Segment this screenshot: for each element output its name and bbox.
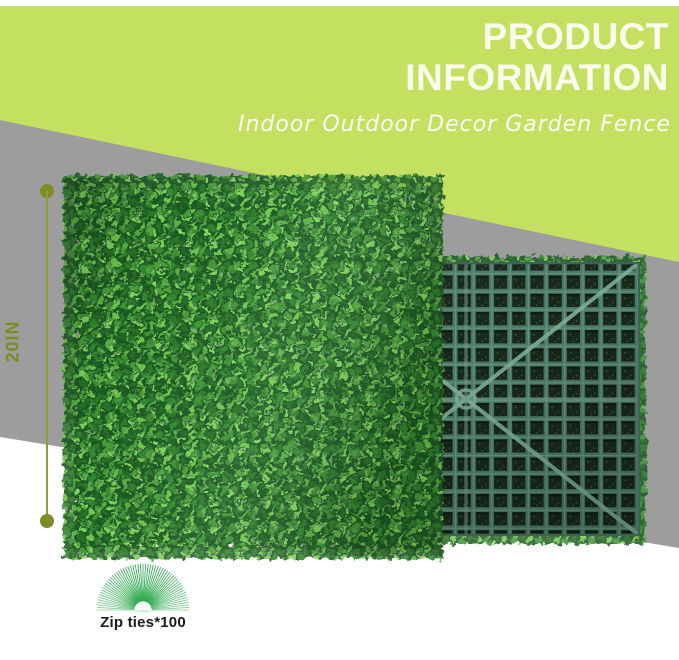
zip-ties-badge: Zip ties*100: [68, 562, 218, 631]
product-panels: [0, 0, 679, 660]
zip-ties-caption: Zip ties*100: [68, 614, 218, 631]
artificial-hedge-panel: [64, 178, 442, 556]
zip-ties-fan-icon: [78, 562, 208, 612]
product-information-poster: PRODUCT INFORMATION Indoor Outdoor Decor…: [0, 0, 679, 660]
